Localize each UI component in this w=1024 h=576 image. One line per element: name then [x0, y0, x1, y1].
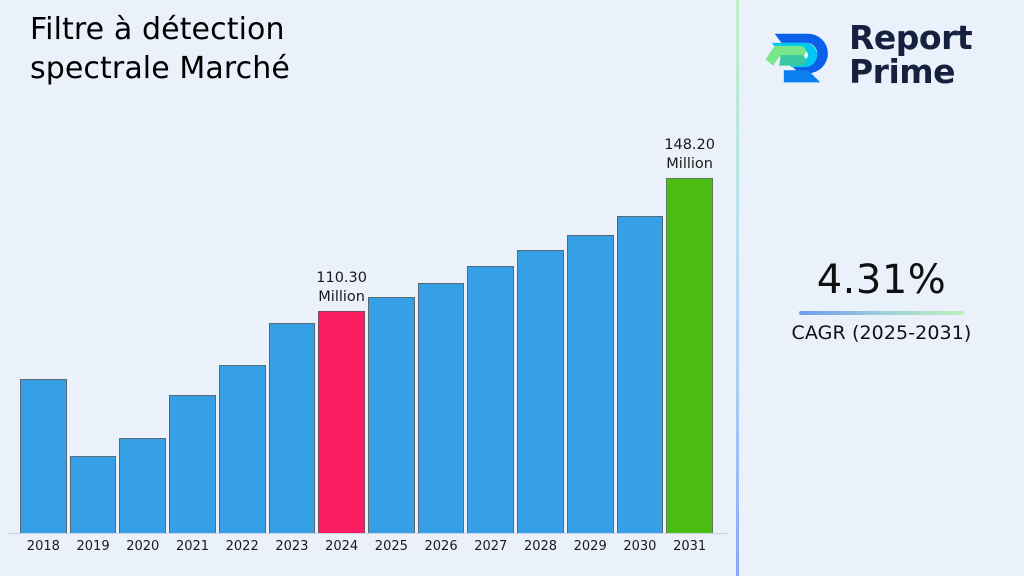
x-tick-2018: 2018 — [20, 539, 67, 554]
report-prime-logo: Report Prime — [761, 12, 1006, 98]
page-title: Filtre à détection spectrale Marché — [30, 10, 630, 88]
x-tick-2024: 2024 — [318, 539, 365, 554]
bars-layer: 110.30 Million148.20 Million — [0, 120, 737, 534]
x-tick-2019: 2019 — [70, 539, 117, 554]
bar-2025 — [368, 297, 415, 534]
bar-2027 — [467, 266, 514, 534]
bar-2021 — [169, 395, 216, 534]
bar-2029 — [567, 235, 614, 534]
bar-2020 — [119, 438, 166, 534]
x-tick-2021: 2021 — [169, 539, 216, 554]
infographic-root: Filtre à détection spectrale Marché 110.… — [0, 0, 1024, 576]
x-tick-2020: 2020 — [119, 539, 166, 554]
bar-chart: 110.30 Million148.20 Million — [0, 120, 737, 534]
x-tick-2022: 2022 — [219, 539, 266, 554]
cagr-block: 4.31% CAGR (2025-2031) — [739, 258, 1024, 344]
x-tick-2027: 2027 — [467, 539, 514, 554]
brand-wordmark: Report Prime — [849, 21, 972, 90]
x-tick-2028: 2028 — [517, 539, 564, 554]
cagr-divider-rule — [799, 311, 964, 315]
x-axis-tick-labels: 2018201920202021202220232024202520262027… — [0, 539, 737, 563]
bar-2018 — [20, 379, 67, 534]
bar-2028 — [517, 250, 564, 534]
x-tick-2031: 2031 — [666, 539, 713, 554]
bar-value-label-2031: 148.20 Million — [644, 136, 735, 173]
report-prime-r-logo-icon — [761, 17, 837, 93]
x-tick-2023: 2023 — [269, 539, 316, 554]
bar-2022 — [219, 365, 266, 534]
cagr-caption: CAGR (2025-2031) — [739, 322, 1024, 344]
x-tick-2030: 2030 — [617, 539, 664, 554]
x-axis-line — [8, 533, 728, 534]
chart-panel: Filtre à détection spectrale Marché 110.… — [0, 0, 737, 576]
bar-2019 — [70, 456, 117, 534]
bar-2026 — [418, 283, 465, 534]
x-tick-2026: 2026 — [418, 539, 465, 554]
x-tick-2029: 2029 — [567, 539, 614, 554]
brand-panel: Report Prime 4.31% CAGR (2025-2031) — [739, 0, 1024, 576]
bar-2030 — [617, 216, 664, 534]
bar-2024 — [318, 311, 365, 534]
x-tick-2025: 2025 — [368, 539, 415, 554]
bar-2031 — [666, 178, 713, 534]
cagr-value: 4.31% — [739, 258, 1024, 302]
bar-2023 — [269, 323, 316, 534]
